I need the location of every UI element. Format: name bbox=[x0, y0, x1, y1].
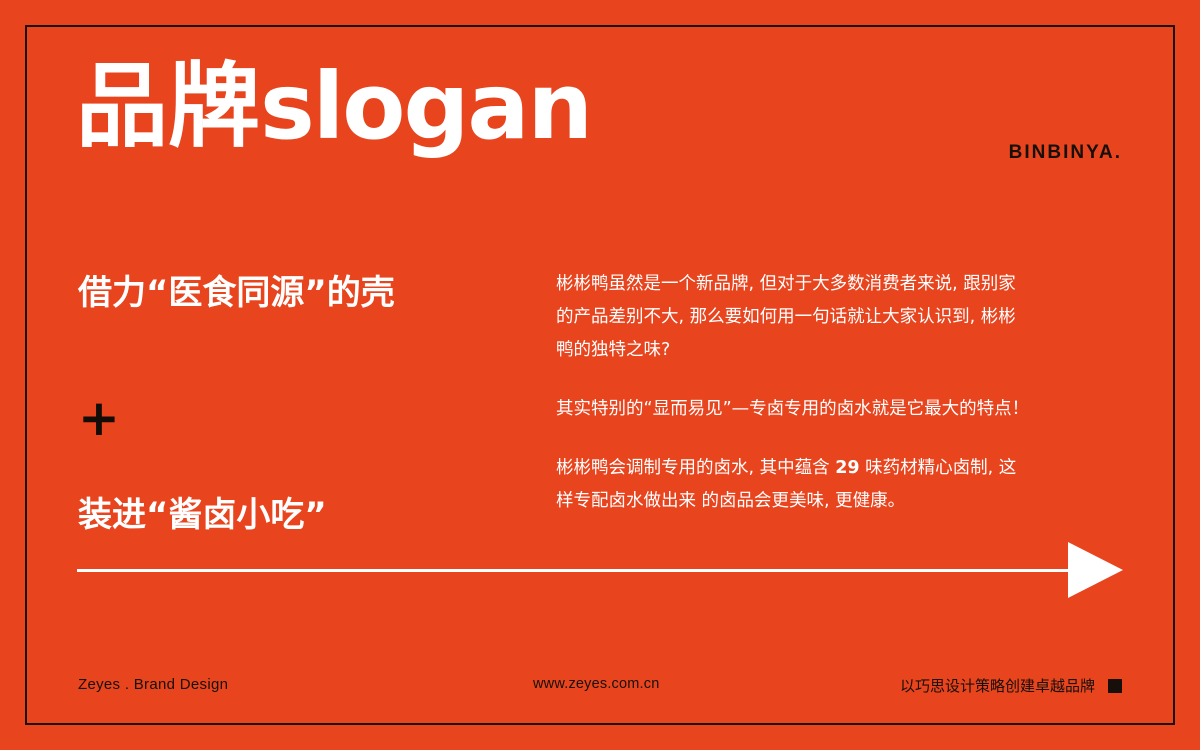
page-title-cn: 品牌 bbox=[76, 53, 260, 160]
lead-statement-two: 装进“酱卤小吃” bbox=[78, 487, 327, 536]
slide-canvas: 品牌slogan BINBINYA. 借力“医食同源”的壳 + 装进“酱卤小吃”… bbox=[0, 0, 1200, 750]
body-paragraph-1: 彬彬鸭虽然是一个新品牌, 但对于大多数消费者来说, 跟别家的产品差别不大, 那么… bbox=[556, 268, 1031, 367]
page-title: 品牌slogan bbox=[76, 55, 591, 159]
plus-icon: + bbox=[78, 393, 120, 443]
footer-studio-credit: Zeyes . Brand Design bbox=[78, 676, 228, 693]
divider-rule bbox=[77, 569, 1072, 572]
square-marker-icon bbox=[1108, 679, 1122, 693]
play-arrow-icon bbox=[1068, 542, 1123, 598]
lead-statement-one: 借力“医食同源”的壳 bbox=[78, 265, 395, 314]
footer-tagline: 以巧思设计策略创建卓越品牌 bbox=[900, 675, 1095, 696]
footer-website[interactable]: www.zeyes.com.cn bbox=[533, 676, 660, 692]
highlight-number: 29 bbox=[835, 458, 859, 478]
body-paragraph-3: 彬彬鸭会调制专用的卤水, 其中蕴含 29 味药材精心卤制, 这样专配卤水做出来 … bbox=[556, 452, 1031, 518]
footer-tagline-group: 以巧思设计策略创建卓越品牌 bbox=[900, 675, 1122, 696]
brand-logo: BINBINYA. bbox=[1009, 142, 1122, 164]
body-paragraph-2: 其实特别的“显而易见”—专卤专用的卤水就是它最大的特点！ bbox=[556, 393, 1031, 426]
body-copy-column: 彬彬鸭虽然是一个新品牌, 但对于大多数消费者来说, 跟别家的产品差别不大, 那么… bbox=[556, 268, 1031, 518]
page-title-en: slogan bbox=[260, 53, 591, 160]
